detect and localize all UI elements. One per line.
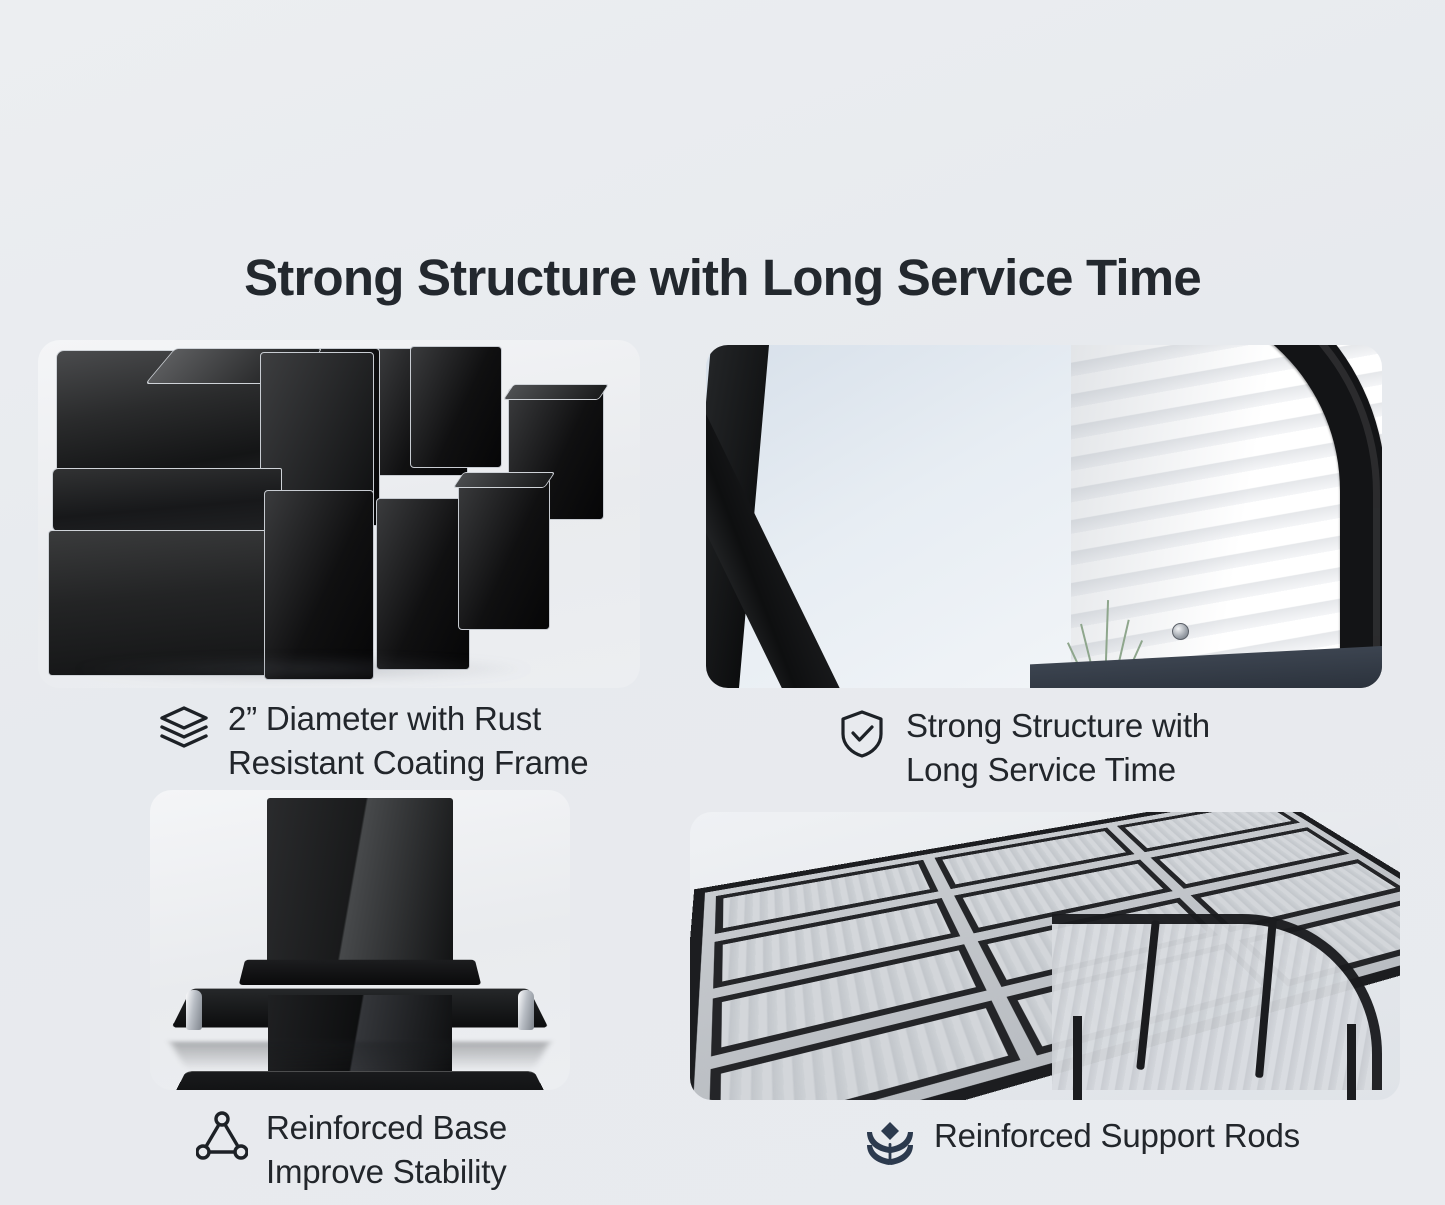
tube-lower-3 bbox=[458, 478, 550, 630]
feature-image-base bbox=[150, 790, 570, 1090]
caption-tubes: 2” Diameter with Rust Resistant Coating … bbox=[158, 697, 588, 784]
anchor-bolt-left bbox=[186, 990, 202, 1030]
caption-text: Strong Structure with Long Service Time bbox=[906, 704, 1210, 791]
tubes-shadow bbox=[68, 656, 538, 682]
shield-check-icon bbox=[836, 708, 888, 760]
tube-lower-2 bbox=[376, 498, 470, 670]
base-collar bbox=[239, 960, 482, 985]
triangle-nodes-icon bbox=[196, 1110, 248, 1162]
tube-mid bbox=[52, 468, 282, 532]
layers-icon bbox=[158, 701, 210, 753]
canopy-support-leg bbox=[1347, 1024, 1356, 1100]
caption-text: Reinforced Base Improve Stability bbox=[266, 1106, 507, 1193]
infographic-page: Strong Structure with Long Service Time bbox=[0, 0, 1445, 1205]
feature-image-frame bbox=[706, 345, 1382, 688]
tube-right-upper-top bbox=[503, 384, 610, 400]
feature-image-tubes bbox=[38, 340, 640, 688]
tube-back-2 bbox=[410, 346, 502, 468]
tube-lower-3-top bbox=[453, 472, 556, 488]
caption-rods: Reinforced Support Rods bbox=[864, 1114, 1300, 1170]
anchor-bolt-right bbox=[518, 990, 534, 1030]
tube-lower-large bbox=[48, 530, 284, 676]
frame-bolt bbox=[1172, 623, 1189, 640]
base-post bbox=[267, 798, 453, 966]
sprout-icon bbox=[864, 1118, 916, 1170]
base-reflection bbox=[170, 1042, 549, 1075]
canopy-support-leg bbox=[1073, 1016, 1082, 1100]
caption-base: Reinforced Base Improve Stability bbox=[196, 1106, 507, 1193]
caption-text: 2” Diameter with Rust Resistant Coating … bbox=[228, 697, 588, 784]
feature-image-canopy bbox=[690, 812, 1400, 1100]
page-title: Strong Structure with Long Service Time bbox=[0, 248, 1445, 307]
caption-frame: Strong Structure with Long Service Time bbox=[836, 704, 1210, 791]
tube-lower-end bbox=[264, 490, 374, 680]
caption-text: Reinforced Support Rods bbox=[934, 1114, 1300, 1158]
